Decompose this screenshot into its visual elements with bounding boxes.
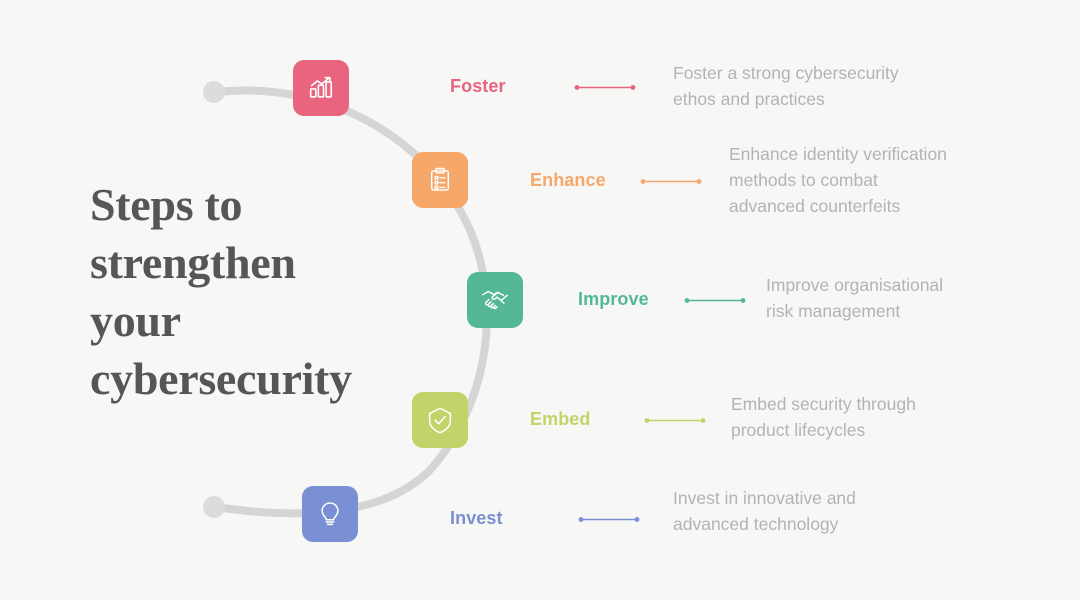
connector-improve [684,296,746,305]
arc-start-cap [203,81,225,103]
connector-invest [578,515,640,524]
icon-tile-improve[interactable] [467,272,523,328]
page-title: Steps to strengthen your cybersecurity [90,176,390,408]
step-description-invest: Invest in innovative and advanced techno… [673,485,973,537]
icon-tile-enhance[interactable] [412,152,468,208]
arc-end-cap [203,496,225,518]
bar-chart-growth-icon [306,73,336,103]
step-description-enhance: Enhance identity verification methods to… [729,141,1029,219]
clipboard-checklist-icon [426,166,454,194]
step-label-invest[interactable]: Invest [450,508,503,529]
connector-embed [644,416,706,425]
step-label-enhance[interactable]: Enhance [530,170,606,191]
icon-tile-foster[interactable] [293,60,349,116]
infographic-canvas: Steps to strengthen your cybersecurity [0,0,1080,600]
icon-tile-embed[interactable] [412,392,468,448]
step-label-foster[interactable]: Foster [450,76,506,97]
lightbulb-icon [316,500,344,528]
handshake-icon [479,284,511,316]
step-label-improve[interactable]: Improve [578,289,649,310]
connector-foster [574,83,636,92]
icon-tile-invest[interactable] [302,486,358,542]
connector-enhance [640,177,702,186]
step-description-foster: Foster a strong cybersecurity ethos and … [673,60,973,112]
step-description-improve: Improve organisational risk management [766,272,1066,324]
step-description-embed: Embed security through product lifecycle… [731,391,1031,443]
step-label-embed[interactable]: Embed [530,409,591,430]
shield-check-icon [425,405,455,435]
